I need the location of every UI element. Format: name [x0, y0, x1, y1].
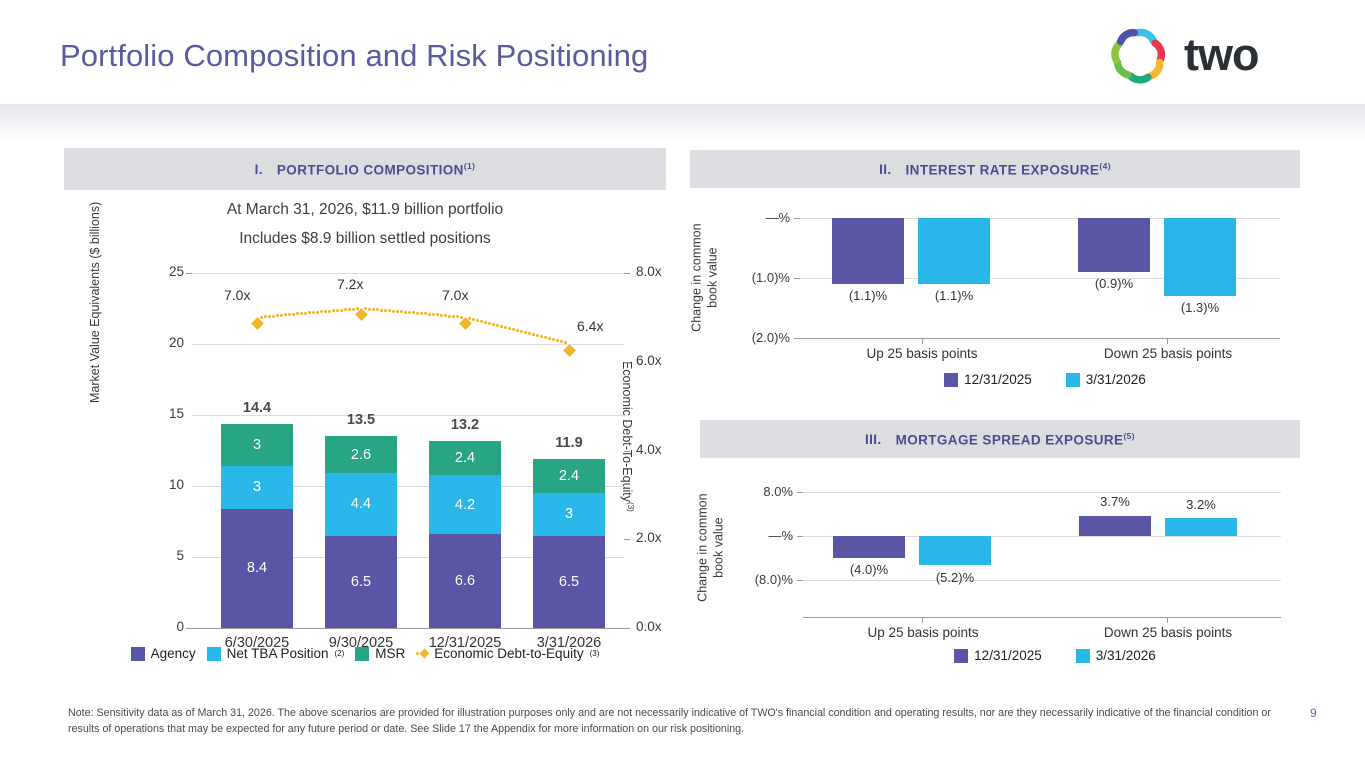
legend-footnote-ref: (3) [590, 649, 600, 658]
bar-up25-2026[interactable] [918, 218, 990, 284]
x-axis-label: Down 25 basis points [1088, 625, 1248, 640]
segment-value-agency: 6.5 [559, 574, 579, 590]
chart-one-ytick-20: 20 [169, 335, 184, 350]
legend-label: Economic Debt-to-Equity [434, 646, 583, 661]
chart-one-ytick-5: 5 [176, 548, 184, 563]
legend-label: Agency [151, 646, 196, 661]
chart-one-plot-area: 25 20 15 10 5 0 8.0x 6.0x 4.0x 2.0x 0.0x… [192, 273, 624, 628]
segment-value-agency: 8.4 [247, 560, 267, 576]
page-title: Portfolio Composition and Risk Positioni… [60, 38, 648, 74]
bar-total-label: 11.9 [514, 435, 624, 451]
chart-three-ytick-pos8: 8.0% [763, 484, 793, 499]
legend-item-agency[interactable]: Agency [131, 646, 196, 661]
bar-down25-2025[interactable] [1079, 516, 1151, 536]
legend-item-msr[interactable]: MSR [355, 646, 405, 661]
legend-label: Net TBA Position [227, 646, 329, 661]
section-three-footnote-ref: (5) [1123, 431, 1135, 441]
bar-total-label: 13.5 [306, 412, 416, 428]
footer-note: Note: Sensitivity data as of March 31, 2… [68, 706, 1298, 737]
legend-item-economic-debt-to-equity[interactable]: Economic Debt-to-Equity(3) [416, 646, 599, 661]
chart-two-ytick-0: —% [765, 210, 790, 225]
chart-two-ytick-1: (1.0)% [752, 270, 790, 285]
dotted-line-swatch-icon [416, 650, 428, 657]
legend-item-3-31-2026[interactable]: 3/31/2026 [1076, 648, 1156, 663]
chart-three-ytick-zero: —% [768, 528, 793, 543]
bar-down25-2026[interactable] [1164, 218, 1236, 296]
panel-mortgage-spread-exposure: Change in common book value 8.0% —% (8.0… [685, 470, 1300, 680]
table-row[interactable]: 13.5 2.6 4.4 6.5 [325, 436, 397, 628]
chart-two-y-axis-title: Change in common book value [689, 219, 720, 337]
table-row[interactable]: 11.9 2.4 3 6.5 [533, 459, 605, 628]
segment-value-msr: 2.4 [559, 468, 579, 484]
logo-wordmark: two [1184, 29, 1258, 81]
section-header-mortgage-spread-exposure: III.MORTGAGE SPREAD EXPOSURE(5) [700, 420, 1300, 458]
panel-one-subtitle-2: Includes $8.9 billion settled positions [64, 230, 666, 248]
bar-total-label: 13.2 [410, 417, 520, 433]
legend-label: 12/31/2025 [974, 648, 1042, 663]
bar-value-label: (1.1)% [832, 288, 904, 303]
pinwheel-logo-icon [1100, 24, 1176, 86]
legend-label: 12/31/2025 [964, 372, 1032, 387]
legend-item-net-tba-position[interactable]: Net TBA Position(2) [207, 646, 345, 661]
gridline-20 [192, 344, 624, 345]
line-label: 7.2x [337, 276, 363, 292]
bar-up25-2026[interactable] [919, 536, 991, 565]
bar-up25-2025[interactable] [833, 536, 905, 558]
legend-swatch-icon [207, 647, 221, 661]
legend-item-12-31-2025[interactable]: 12/31/2025 [954, 648, 1042, 663]
legend-label: 3/31/2026 [1096, 648, 1156, 663]
chart-one-y2tick-2: 2.0x [636, 530, 662, 545]
segment-value-msr: 2.4 [455, 450, 475, 466]
chart-two-plot-area: —% (1.0)% (2.0)% (1.1)% (1.1)% (0.9)% (1… [800, 218, 1280, 338]
section-two-numeral: II. [879, 162, 891, 177]
page-number: 9 [1310, 706, 1317, 720]
slide-root: Portfolio Composition and Risk Positioni… [0, 0, 1365, 768]
segment-value-agency: 6.5 [351, 574, 371, 590]
chart-one-y2tick-4: 4.0x [636, 442, 662, 457]
section-two-footnote-ref: (4) [1099, 161, 1111, 171]
table-row[interactable]: 13.2 2.4 4.2 6.6 [429, 441, 501, 628]
line-label: 6.4x [577, 318, 603, 334]
bar-value-label: (0.9)% [1078, 276, 1150, 291]
legend-label: 3/31/2026 [1086, 372, 1146, 387]
table-row[interactable]: 14.4 3 3 8.4 [221, 424, 293, 629]
bar-up25-2025[interactable] [832, 218, 904, 284]
line-label: 7.0x [224, 287, 250, 303]
panel-portfolio-composition: At March 31, 2026, $11.9 billion portfol… [64, 148, 666, 683]
gridline-neg8 [803, 580, 1281, 581]
line-label: 7.0x [442, 287, 468, 303]
bar-value-label: (1.3)% [1164, 300, 1236, 315]
bar-value-label: (1.1)% [918, 288, 990, 303]
bar-value-label: (4.0)% [833, 562, 905, 577]
gridline-25 [192, 273, 624, 274]
legend-swatch-icon [1066, 373, 1080, 387]
chart-two-x-axis [800, 338, 1280, 339]
legend-label: MSR [375, 646, 405, 661]
section-three-numeral: III. [865, 432, 882, 447]
legend-swatch-icon [131, 647, 145, 661]
chart-one-ytick-15: 15 [169, 406, 184, 421]
legend-item-3-31-2026[interactable]: 3/31/2026 [1066, 372, 1146, 387]
line-marker[interactable] [251, 317, 264, 330]
legend-footnote-ref: (2) [334, 649, 344, 658]
gridline-pos8 [803, 492, 1281, 493]
panel-one-subtitle-1: At March 31, 2026, $11.9 billion portfol… [64, 201, 666, 219]
bar-value-label: (5.2)% [919, 570, 991, 585]
chart-one-ytick-10: 10 [169, 477, 184, 492]
section-three-label: MORTGAGE SPREAD EXPOSURE [896, 432, 1124, 447]
section-two-label: INTEREST RATE EXPOSURE [906, 162, 1100, 177]
segment-value-tba: 3 [565, 506, 573, 522]
x-axis-label: Up 25 basis points [843, 625, 1003, 640]
segment-value-msr: 2.6 [351, 447, 371, 463]
line-marker[interactable] [355, 308, 368, 321]
chart-one-legend: Agency Net TBA Position(2) MSR Economic … [64, 646, 666, 661]
chart-three-plot-area: 8.0% —% (8.0)% (4.0)% (5.2)% 3.7% 3.2% U… [803, 492, 1281, 580]
bar-value-label: 3.2% [1165, 497, 1237, 512]
segment-value-tba: 4.4 [351, 496, 371, 512]
segment-value-msr: 3 [253, 437, 261, 453]
chart-one-y2tick-0: 0.0x [636, 619, 662, 634]
bar-value-label: 3.7% [1079, 494, 1151, 509]
segment-value-agency: 6.6 [455, 573, 475, 589]
chart-three-x-axis [803, 617, 1281, 618]
brand-logo: two [1100, 24, 1300, 86]
chart-three-legend: 12/31/2025 3/31/2026 [885, 648, 1225, 663]
chart-one-x-axis [192, 628, 624, 629]
legend-item-12-31-2025[interactable]: 12/31/2025 [944, 372, 1032, 387]
x-axis-label: Up 25 basis points [842, 346, 1002, 361]
section-header-interest-rate-exposure: II.INTEREST RATE EXPOSURE(4) [690, 150, 1300, 188]
legend-swatch-icon [1076, 649, 1090, 663]
chart-one-ytick-0: 0 [176, 619, 184, 634]
header-gradient-divider [0, 104, 1365, 142]
chart-one-y-axis-title: Market Value Equivalents ($ billions) [88, 202, 102, 403]
chart-one-ytick-25: 25 [169, 264, 184, 279]
chart-three-ytick-neg8: (8.0)% [755, 572, 793, 587]
chart-two-ytick-2: (2.0)% [752, 330, 790, 345]
bar-down25-2025[interactable] [1078, 218, 1150, 272]
legend-swatch-icon [954, 649, 968, 663]
segment-value-tba: 3 [253, 479, 261, 495]
bar-total-label: 14.4 [202, 400, 312, 416]
legend-swatch-icon [355, 647, 369, 661]
legend-swatch-icon [944, 373, 958, 387]
chart-one-y2tick-8: 8.0x [636, 264, 662, 279]
chart-one-y2tick-6: 6.0x [636, 353, 662, 368]
x-axis-label: Down 25 basis points [1088, 346, 1248, 361]
bar-down25-2026[interactable] [1165, 518, 1237, 536]
line-marker[interactable] [563, 344, 576, 357]
panel-interest-rate-exposure: Change in common book value —% (1.0)% (2… [685, 200, 1300, 400]
segment-value-tba: 4.2 [455, 497, 475, 513]
chart-two-legend: 12/31/2025 3/31/2026 [875, 372, 1215, 387]
chart-three-y-axis-title: Change in common book value [695, 489, 726, 607]
